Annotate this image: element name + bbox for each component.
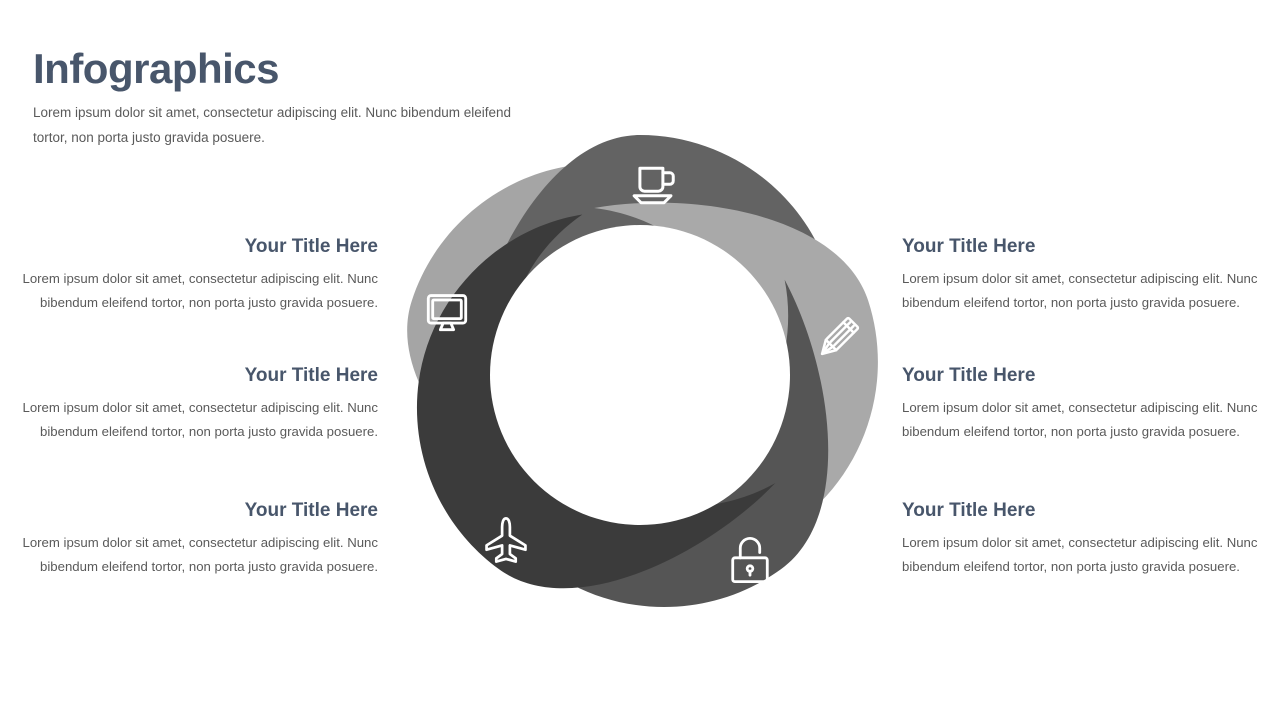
info-block-title: Your Title Here — [902, 501, 1268, 522]
info-block-right-2[interactable]: Your Title Here Lorem ipsum dolor sit am… — [902, 366, 1268, 445]
info-block-right-3[interactable]: Your Title Here Lorem ipsum dolor sit am… — [902, 501, 1268, 580]
info-block-title: Your Title Here — [902, 237, 1268, 258]
info-block-body: Lorem ipsum dolor sit amet, consectetur … — [902, 396, 1268, 445]
info-block-body: Lorem ipsum dolor sit amet, consectetur … — [902, 267, 1268, 316]
info-block-body: Lorem ipsum dolor sit amet, consectetur … — [12, 396, 378, 445]
page-title: Infographics — [33, 48, 553, 90]
info-block-title: Your Title Here — [12, 501, 378, 522]
info-block-title: Your Title Here — [12, 366, 378, 387]
infographic-slide: Infographics Lorem ipsum dolor sit amet,… — [0, 0, 1280, 720]
info-block-title: Your Title Here — [12, 237, 378, 258]
pinwheel-diagram — [385, 125, 895, 625]
info-block-right-1[interactable]: Your Title Here Lorem ipsum dolor sit am… — [902, 237, 1268, 316]
info-block-left-1[interactable]: Your Title Here Lorem ipsum dolor sit am… — [12, 237, 378, 316]
info-block-body: Lorem ipsum dolor sit amet, consectetur … — [902, 531, 1268, 580]
info-block-left-3[interactable]: Your Title Here Lorem ipsum dolor sit am… — [12, 501, 378, 580]
info-block-title: Your Title Here — [902, 366, 1268, 387]
pinwheel-center — [490, 225, 790, 525]
info-block-body: Lorem ipsum dolor sit amet, consectetur … — [12, 531, 378, 580]
info-block-left-2[interactable]: Your Title Here Lorem ipsum dolor sit am… — [12, 366, 378, 445]
info-block-body: Lorem ipsum dolor sit amet, consectetur … — [12, 267, 378, 316]
